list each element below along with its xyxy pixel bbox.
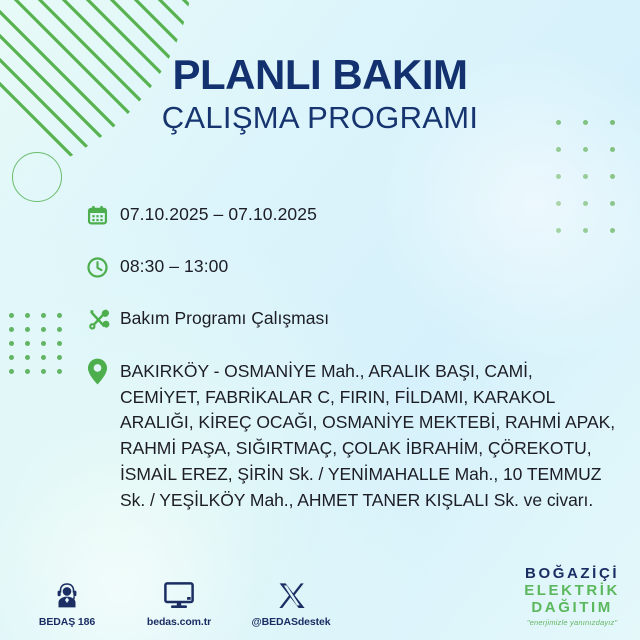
tools-icon — [86, 304, 120, 334]
poster-footer: BEDAŞ 186 bedas.com.tr — [0, 562, 640, 640]
page-subtitle: ÇALIŞMA PROGRAMI — [0, 101, 640, 136]
detail-row-time: 08:30 – 13:00 — [86, 252, 616, 282]
footer-link-label: bedas.com.tr — [147, 616, 211, 628]
circle-outline-decoration — [12, 152, 62, 202]
footer-link-label: @BEDASdestek — [251, 616, 330, 628]
footer-link-label: BEDAŞ 186 — [39, 616, 95, 628]
monitor-icon — [163, 576, 195, 610]
brand-line-bogazici: BOĞAZİÇİ — [524, 566, 620, 581]
time-range-value: 08:30 – 13:00 — [120, 252, 616, 278]
date-range-value: 07.10.2025 – 07.10.2025 — [120, 200, 616, 226]
maintenance-details: 07.10.2025 – 07.10.2025 08:30 – 13:00 — [86, 200, 616, 513]
brand-line-elektrik: ELEKTRİK — [524, 583, 620, 598]
bedas-brand-logo: BOĞAZİÇİ ELEKTRİK DAĞITIM "enerjimizle y… — [524, 566, 620, 627]
footer-link-website[interactable]: bedas.com.tr — [136, 576, 222, 628]
footer-contact-links: BEDAŞ 186 bedas.com.tr — [24, 576, 334, 628]
detail-row-date: 07.10.2025 – 07.10.2025 — [86, 200, 616, 230]
x-twitter-icon — [278, 576, 305, 610]
clock-icon — [86, 252, 120, 282]
work-type-value: Bakım Programı Çalışması — [120, 304, 616, 330]
brand-line-dagitim: DAĞITIM — [524, 600, 620, 615]
planned-maintenance-poster: PLANLI BAKIM ÇALIŞMA PROGRAMI 07 — [0, 0, 640, 640]
footer-link-call-center[interactable]: BEDAŞ 186 — [24, 576, 110, 628]
footer-link-social[interactable]: @BEDASdestek — [248, 576, 334, 628]
dot-grid-left-decoration — [9, 313, 73, 383]
poster-header: PLANLI BAKIM ÇALIŞMA PROGRAMI — [0, 52, 640, 136]
detail-row-work-type: Bakım Programı Çalışması — [86, 304, 616, 334]
support-agent-icon — [52, 576, 82, 610]
location-pin-icon — [86, 356, 120, 386]
brand-tagline: "enerjimizle yanınızdayız" — [524, 619, 620, 627]
page-title: PLANLI BAKIM — [0, 52, 640, 97]
detail-row-address: BAKIRKÖY - OSMANİYE Mah., ARALIK BAŞI, C… — [86, 356, 616, 513]
calendar-icon — [86, 200, 120, 230]
address-value: BAKIRKÖY - OSMANİYE Mah., ARALIK BAŞI, C… — [120, 356, 616, 513]
